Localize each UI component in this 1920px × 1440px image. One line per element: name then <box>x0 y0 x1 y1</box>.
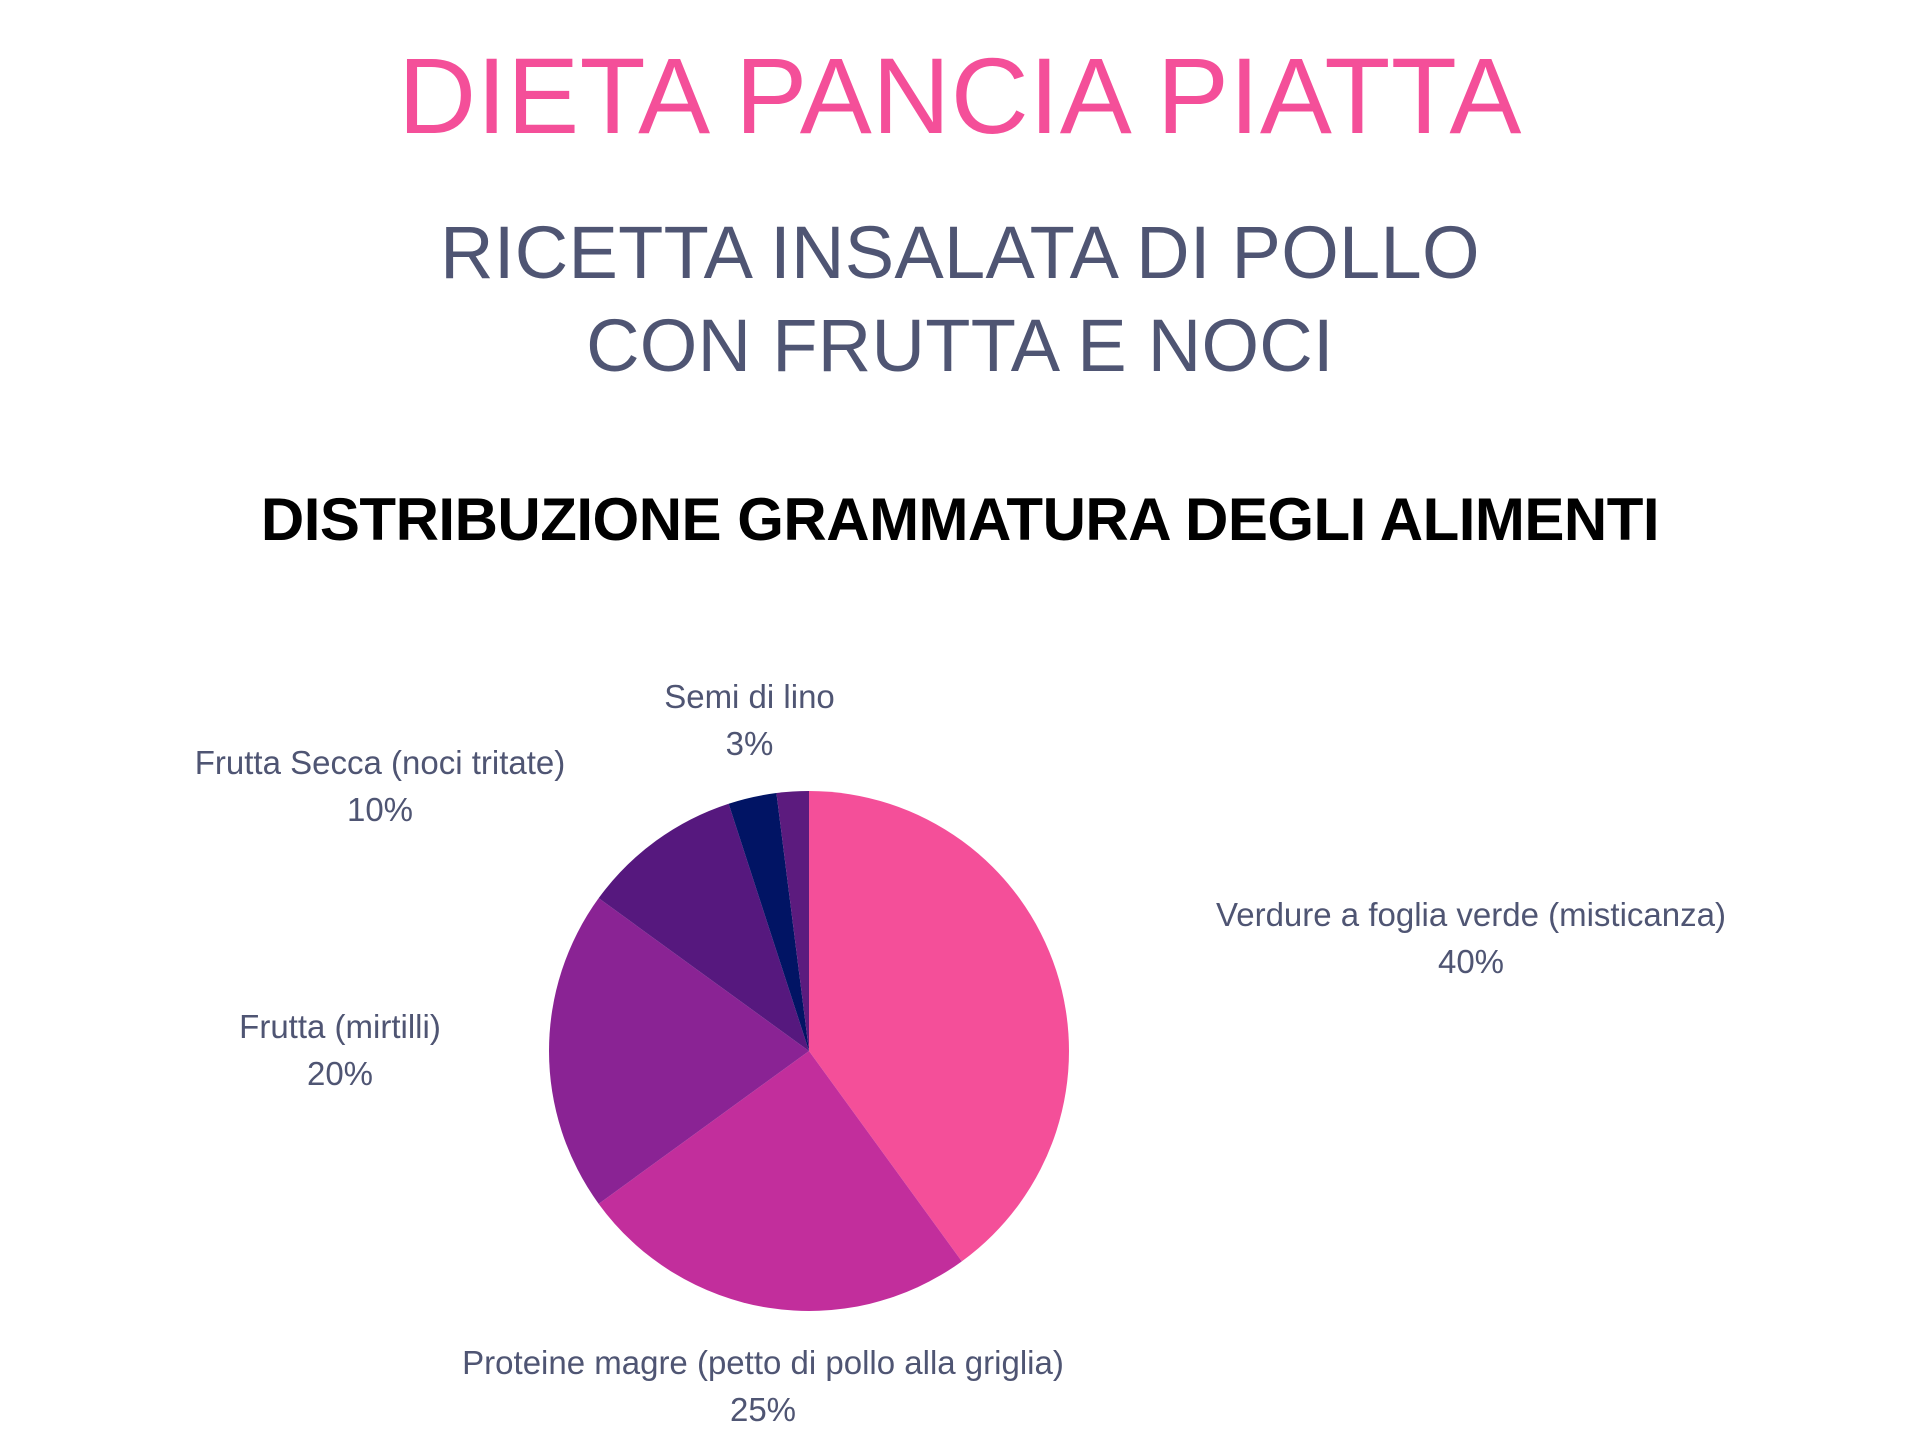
section-heading: DISTRIBUZIONE GRAMMATURA DEGLI ALIMENTI <box>0 487 1920 553</box>
pie-label-semi-di-lino: Semi di lino 3% <box>637 674 862 768</box>
pie-label-frutta-secca: Frutta Secca (noci tritate) 10% <box>130 740 630 834</box>
pie-label-name: Semi di lino <box>637 674 862 721</box>
page-title: DIETA PANCIA PIATTA <box>0 38 1920 155</box>
pie-label-percent: 40% <box>1135 939 1807 986</box>
page-subtitle: RICETTA INSALATA DI POLLO CON FRUTTA E N… <box>0 206 1920 392</box>
subtitle-line-2: CON FRUTTA E NOCI <box>0 299 1920 392</box>
pie-label-name: Proteine magre (petto di pollo alla grig… <box>358 1340 1168 1387</box>
subtitle-line-1: RICETTA INSALATA DI POLLO <box>0 206 1920 299</box>
pie-label-proteine-magre: Proteine magre (petto di pollo alla grig… <box>358 1340 1168 1434</box>
pie-label-percent: 20% <box>200 1051 480 1098</box>
pie-graphic <box>549 791 1069 1311</box>
pie-label-verdure: Verdure a foglia verde (misticanza) 40% <box>1135 892 1807 986</box>
pie-label-name: Verdure a foglia verde (misticanza) <box>1135 892 1807 939</box>
pie-label-percent: 25% <box>358 1387 1168 1434</box>
pie-label-percent: 3% <box>637 721 862 768</box>
pie-svg <box>549 791 1069 1311</box>
pie-label-name: Frutta (mirtilli) <box>200 1004 480 1051</box>
pie-label-frutta-mirtilli: Frutta (mirtilli) 20% <box>200 1004 480 1098</box>
pie-label-name: Frutta Secca (noci tritate) <box>130 740 630 787</box>
pie-chart: Semi di lino 3% Frutta Secca (noci trita… <box>0 620 1920 1440</box>
pie-label-percent: 10% <box>130 787 630 834</box>
pie-slice-group <box>549 791 1069 1311</box>
poster-canvas: DIETA PANCIA PIATTA RICETTA INSALATA DI … <box>0 0 1920 1440</box>
